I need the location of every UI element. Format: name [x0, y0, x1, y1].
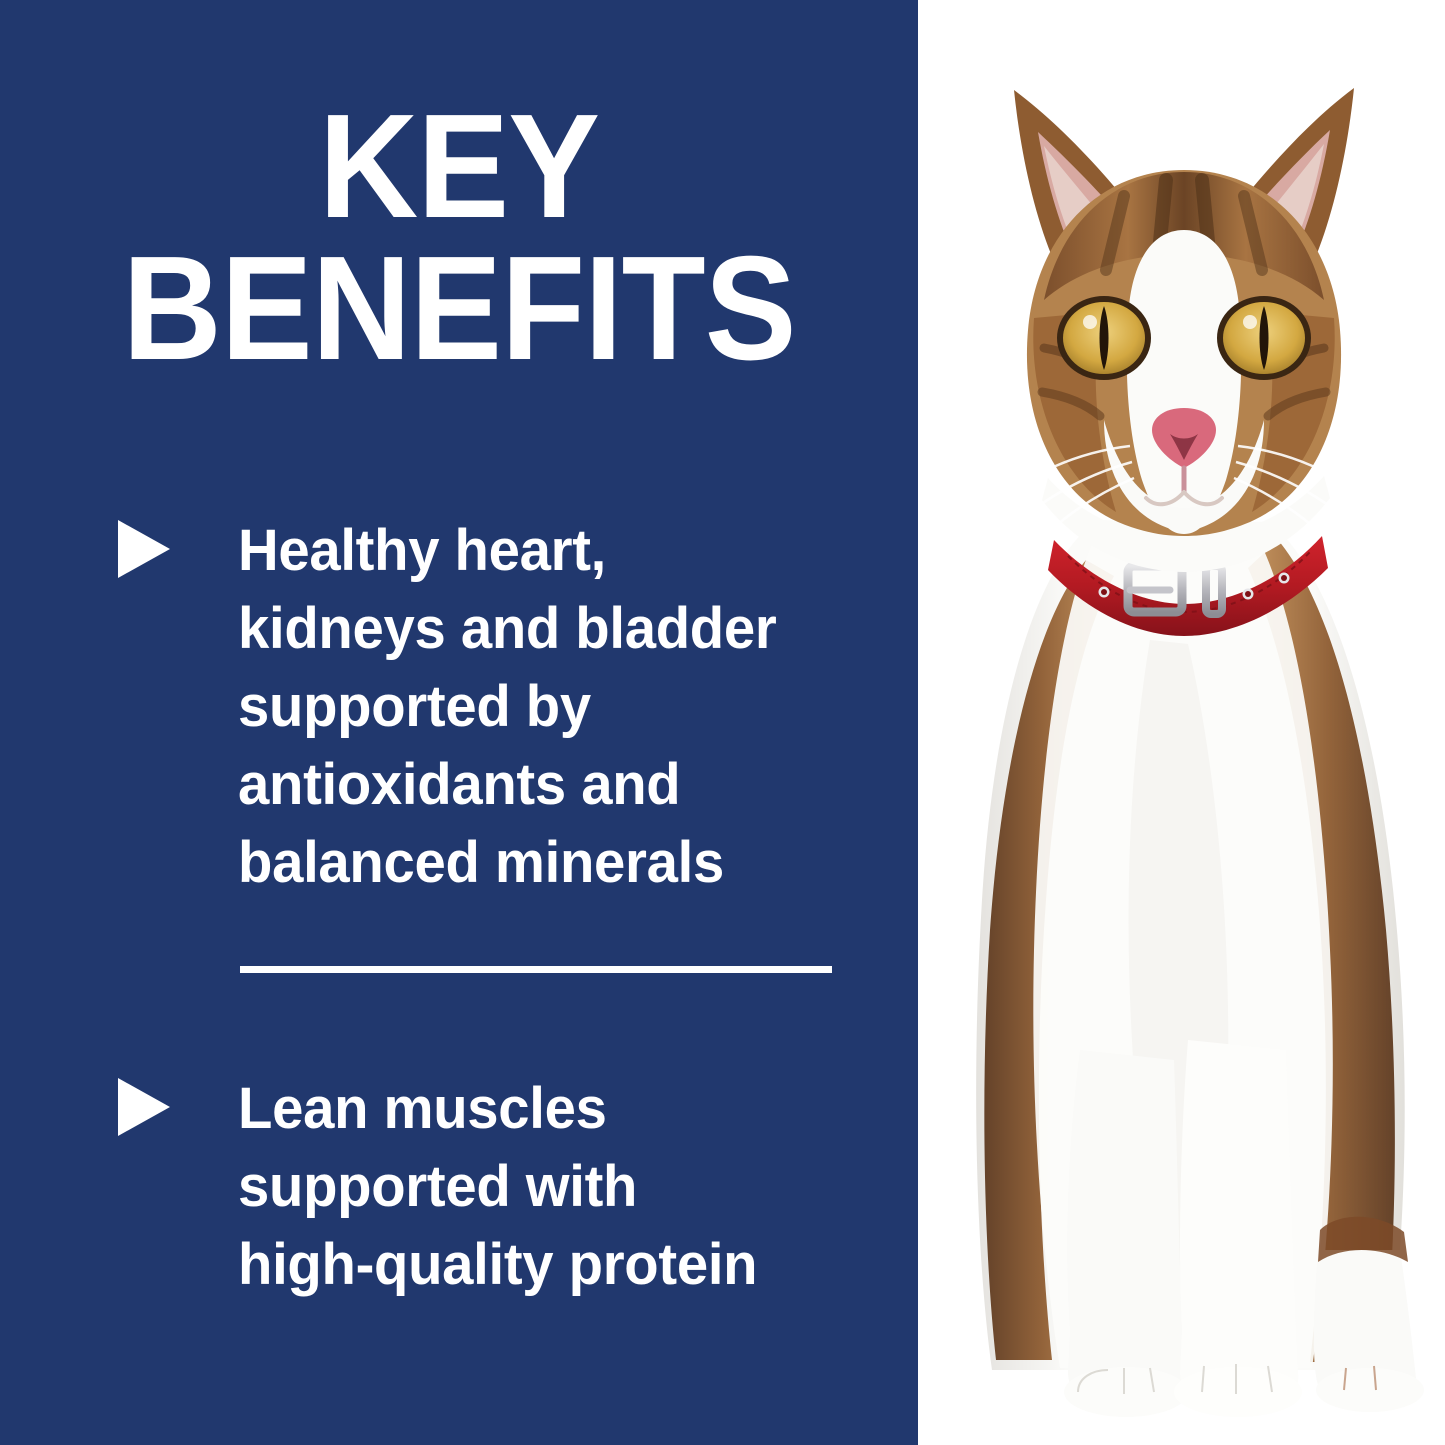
benefit-text: Lean muscles supported with high-quality… [238, 1070, 757, 1304]
cat-photo-area [918, 0, 1445, 1445]
divider [240, 966, 832, 973]
cat-photo [918, 0, 1445, 1445]
triangle-right-icon [118, 1078, 170, 1136]
benefit-item: Lean muscles supported with high-quality… [118, 1070, 878, 1304]
page-title: KEY BENEFITS [32, 96, 886, 380]
benefit-item: Healthy heart, kidneys and bladder suppo… [118, 512, 878, 902]
benefit-text: Healthy heart, kidneys and bladder suppo… [238, 512, 776, 902]
blue-content-panel: KEY BENEFITS Healthy heart, kidneys and … [0, 0, 918, 1445]
key-benefits-banner: KEY BENEFITS Healthy heart, kidneys and … [0, 0, 1445, 1445]
triangle-right-icon [118, 520, 170, 578]
